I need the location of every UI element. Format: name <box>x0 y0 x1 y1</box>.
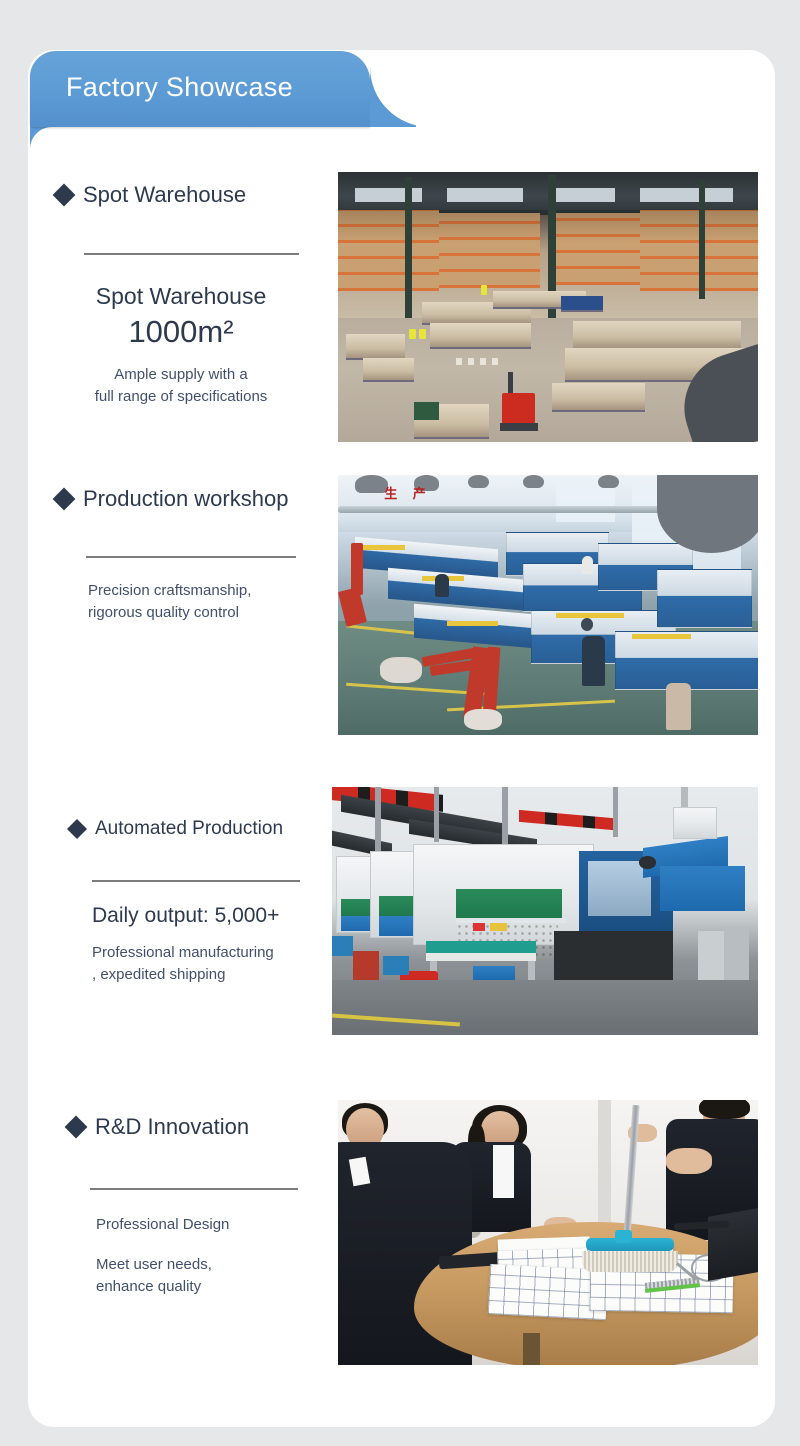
section-rd-innovation-text: R&D Innovation Professional Design Meet … <box>68 1114 328 1297</box>
section-description-line1: Ample supply with a <box>56 364 306 386</box>
section-title: Spot Warehouse <box>83 182 246 208</box>
section-description-line2: full range of specifications <box>56 386 306 408</box>
section-title: Automated Production <box>95 818 283 840</box>
section-production-workshop-text: Production workshop Precision craftsmans… <box>56 486 316 624</box>
header-tab-curve <box>370 51 416 127</box>
section-headline: Daily output: 5,000+ <box>92 904 330 928</box>
section-heading-spot-warehouse: Spot Warehouse <box>56 182 306 208</box>
section-heading-rd-innovation: R&D Innovation <box>68 1114 328 1140</box>
section-description-line1: Professional manufacturing <box>92 942 330 964</box>
production-workshop-photo: 生 产 <box>338 475 758 735</box>
diamond-icon <box>67 819 87 839</box>
diamond-icon <box>53 488 76 511</box>
section-divider <box>90 1188 298 1190</box>
page-title: Factory Showcase <box>66 72 293 103</box>
section-description-line1: Precision craftsmanship, <box>88 580 316 602</box>
section-title: Production workshop <box>83 486 288 512</box>
section-headline: Spot Warehouse <box>56 283 306 310</box>
section-title: R&D Innovation <box>95 1114 249 1140</box>
section-divider <box>92 880 300 882</box>
warehouse-photo <box>338 172 758 442</box>
section-metric: 1000m² <box>56 314 306 350</box>
page-root: Factory Showcase Spot Warehouse Spot War… <box>0 0 800 1446</box>
injection-molding-photo <box>332 787 758 1035</box>
section-description-line2: , expedited shipping <box>92 964 330 986</box>
section-heading-production-workshop: Production workshop <box>56 486 316 512</box>
section-headline: Professional Design <box>96 1214 328 1236</box>
diamond-icon <box>53 184 76 207</box>
section-description-line2: enhance quality <box>96 1276 328 1298</box>
diamond-icon <box>65 1116 88 1139</box>
section-description-line1: Meet user needs, <box>96 1254 328 1276</box>
section-heading-automated-production: Automated Production <box>70 818 330 840</box>
section-automated-production-text: Automated Production Daily output: 5,000… <box>70 818 330 986</box>
rd-meeting-photo <box>338 1100 758 1365</box>
section-description-line2: rigorous quality control <box>88 602 316 624</box>
section-divider <box>84 253 299 255</box>
section-spot-warehouse-text: Spot Warehouse Spot Warehouse 1000m² Amp… <box>56 182 306 408</box>
section-divider <box>86 556 296 558</box>
